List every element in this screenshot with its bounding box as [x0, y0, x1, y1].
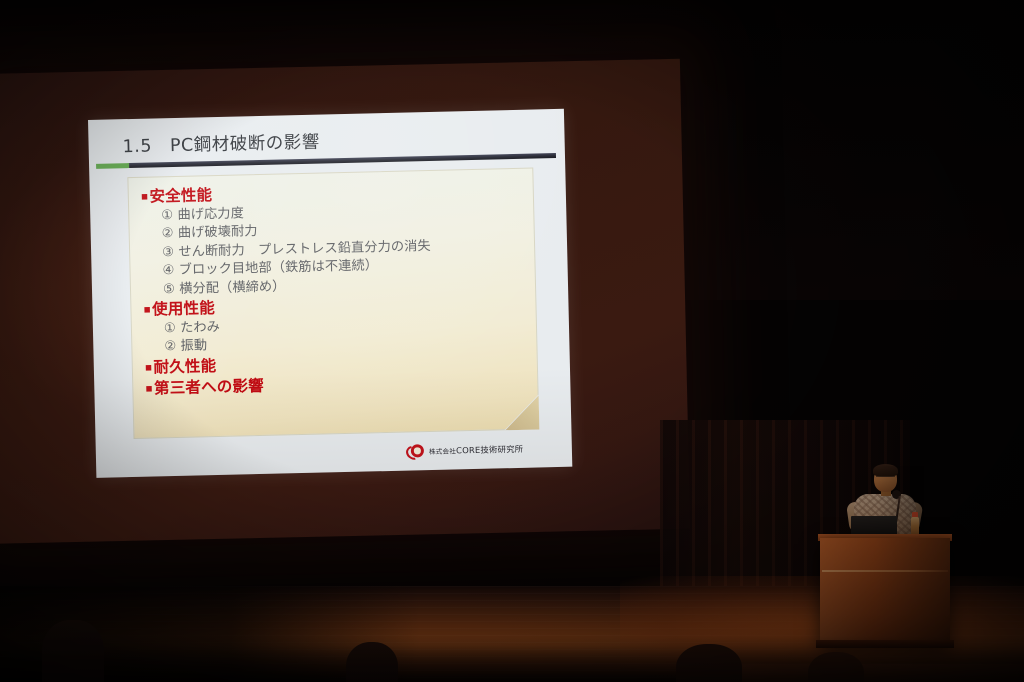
- bullet-icon: ▪: [141, 190, 149, 203]
- bullet-icon: ▪: [145, 360, 153, 373]
- slide-surface: 1.5 PC鋼材破断の影響 ▪安全性能 ① 曲げ応力度 ② 曲げ破壊耐力 ③ せ…: [88, 109, 572, 478]
- company-logo: 株式会社CORE技術研究所: [406, 442, 524, 458]
- audience-head: [346, 642, 398, 682]
- slide-title: 1.5 PC鋼材破断の影響: [122, 129, 320, 159]
- audience-head: [676, 644, 742, 682]
- company-prefix: 株式会社: [429, 447, 456, 456]
- glasses-icon: [876, 476, 895, 481]
- company-name: CORE技術研究所: [456, 443, 523, 455]
- projected-slide: 1.5 PC鋼材破断の影響 ▪安全性能 ① 曲げ応力度 ② 曲げ破壊耐力 ③ せ…: [88, 109, 572, 478]
- audience-head: [42, 620, 104, 682]
- accent-bar-green: [96, 163, 129, 169]
- podium-shading: [820, 538, 950, 646]
- slide-content-list: ▪安全性能 ① 曲げ応力度 ② 曲げ破壊耐力 ③ せん断耐力 プレストレス鉛直分…: [141, 178, 527, 430]
- slide-content-card: ▪安全性能 ① 曲げ応力度 ② 曲げ破壊耐力 ③ せん断耐力 プレストレス鉛直分…: [127, 168, 539, 439]
- bullet-icon: ▪: [143, 303, 151, 316]
- podium-trim-line: [822, 570, 948, 572]
- bullet-icon: ▪: [145, 381, 153, 394]
- presentation-photo: 1.5 PC鋼材破断の影響 ▪安全性能 ① 曲げ応力度 ② 曲げ破壊耐力 ③ せ…: [0, 0, 1024, 682]
- company-logo-text: 株式会社CORE技術研究所: [429, 442, 524, 456]
- core-logo-icon: [406, 444, 425, 457]
- audience-head: [808, 652, 864, 682]
